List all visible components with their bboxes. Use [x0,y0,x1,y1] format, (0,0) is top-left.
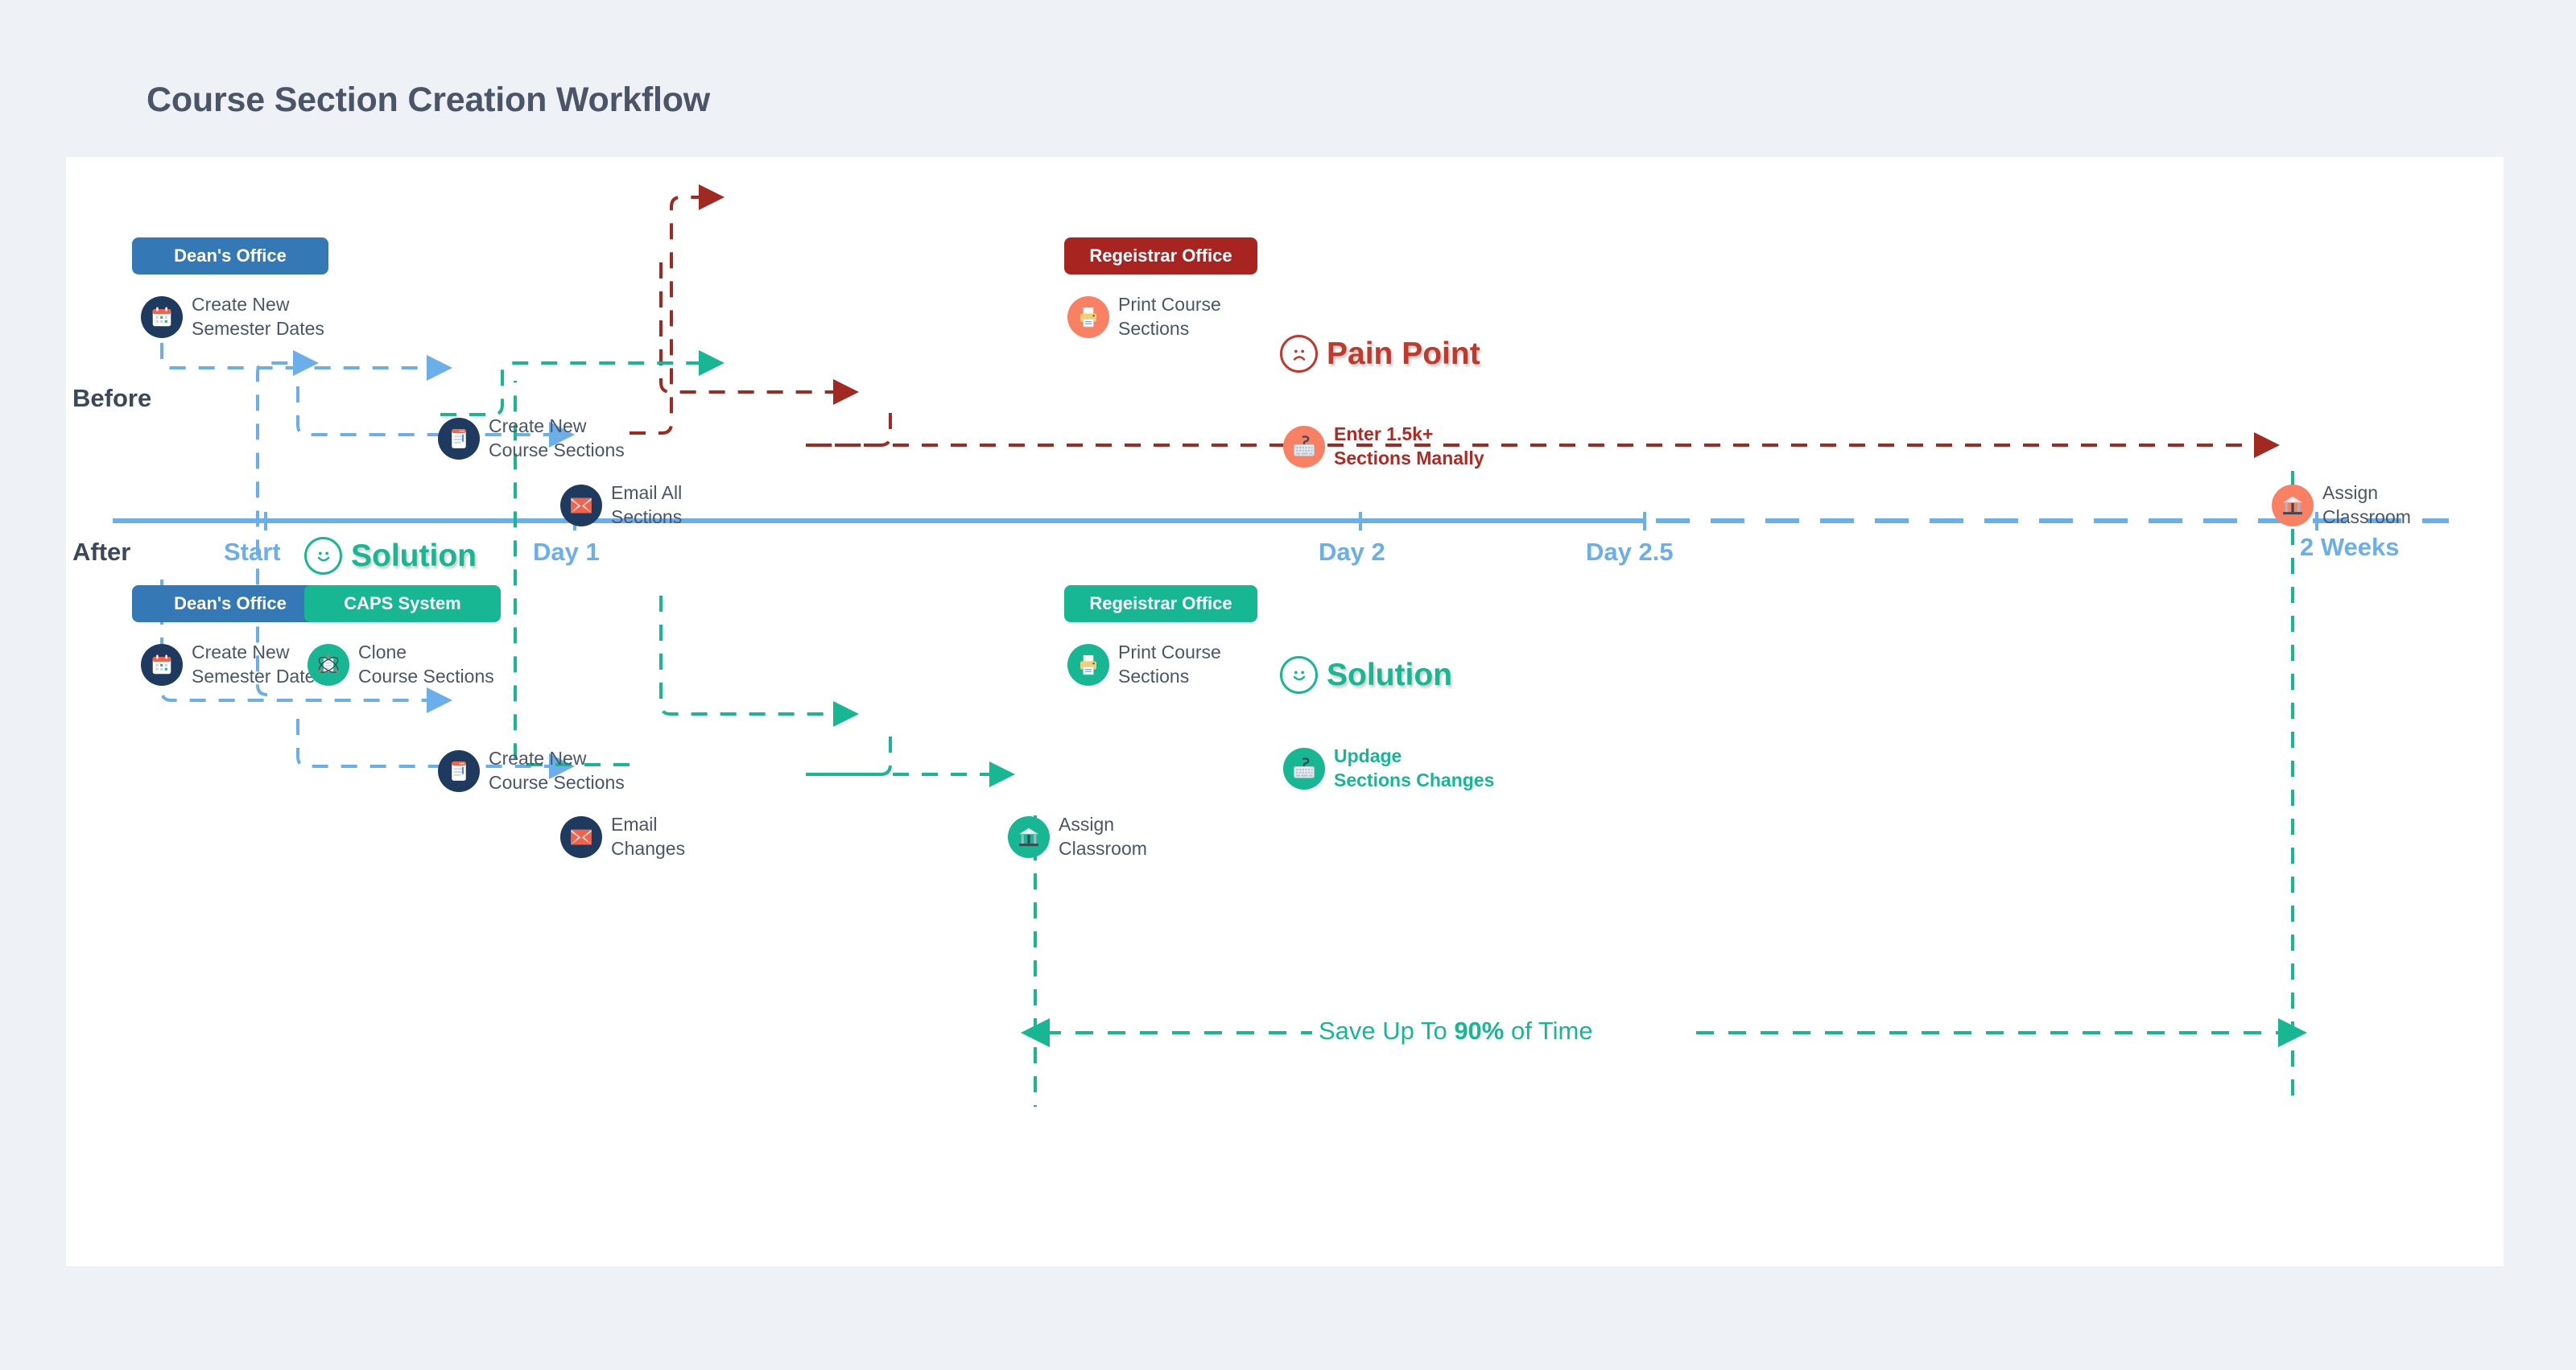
timeline-tick-label-day1: Day 1 [533,538,600,567]
lane-badge-label: Regeistrar Office [1089,246,1232,266]
connector-before-print-to-manual [661,262,836,392]
node-print-course-sections-after[interactable]: Print CourseSections [1067,641,1221,689]
lane-badge-label: Regeistrar Office [1089,593,1232,614]
timeline-before-label: Before [72,384,151,413]
timeline-tick-label-2weeks: 2 Weeks [2300,533,2400,562]
clone-atom-icon [308,644,349,686]
node-clone-course-sections[interactable]: CloneCourse Sections [308,641,494,689]
envelope-icon [560,816,602,858]
page-title: Course Section Creation Workflow [147,80,710,120]
document-form-icon [438,418,480,460]
lane-badge-label: Dean's Office [174,246,287,266]
connector-after-update-down [806,737,890,774]
timeline-tick-label-start: Start [224,538,281,567]
node-label: Email AllSections [611,481,682,530]
node-assign-classroom-before[interactable]: AssignClassroom [2272,481,2411,530]
node-label: Print CourseSections [1118,641,1221,689]
connector-after-print-to-update [661,596,836,714]
node-assign-classroom-after[interactable]: AssignClassroom [1008,813,1147,861]
lane-badge-registrar-office-after[interactable]: Regeistrar Office [1064,585,1257,622]
callout-label: Solution [351,539,477,574]
node-create-semester-dates-after[interactable]: Create NewSemester Dates [141,641,324,689]
node-email-all-sections-before[interactable]: Email AllSections [560,481,682,530]
printer-icon [1067,644,1109,686]
keyboard-icon [1283,426,1325,468]
lane-badge-registrar-office-before[interactable]: Regeistrar Office [1064,237,1257,274]
node-label: Create NewCourse Sections [489,415,625,463]
node-label: Enter 1.5k+Sections Manally [1334,423,1484,471]
node-print-course-sections-before[interactable]: Print CourseSections [1067,293,1221,341]
node-create-course-sections-after[interactable]: Create NewCourse Sections [438,747,625,795]
node-create-course-sections-before[interactable]: Create NewCourse Sections [438,415,625,463]
node-create-semester-dates-before[interactable]: Create NewSemester Dates [141,293,324,341]
savings-note: Save Up To 90% of Time [1319,1017,1593,1046]
timeline-after-label: After [72,538,130,567]
lane-badge-label: Dean's Office [174,593,287,614]
smiley-face-icon [1280,656,1318,694]
printer-icon [1067,296,1109,338]
calendar-icon [141,644,183,686]
savings-suffix: of Time [1504,1017,1592,1045]
node-label: CloneCourse Sections [358,641,494,689]
callout-solution-update: Solution [1280,656,1452,694]
envelope-icon [560,485,602,526]
classroom-icon [2272,485,2314,526]
node-label: UpdageSections Changes [1334,745,1494,793]
node-label: AssignClassroom [1059,813,1147,861]
classroom-icon [1008,816,1050,858]
node-label: EmailChanges [611,813,685,861]
node-enter-sections-manually-before[interactable]: Enter 1.5k+Sections Manally [1283,423,1484,471]
connector-before-email-to-registrar [630,197,702,433]
smiley-face-icon [304,537,342,575]
workflow-card: Dean's Office Regeistrar Office Create N… [66,157,2504,1266]
keyboard-icon [1283,748,1325,790]
node-email-changes[interactable]: EmailChanges [560,813,685,861]
savings-prefix: Save Up To [1319,1017,1454,1045]
lane-badge-deans-office-before[interactable]: Dean's Office [132,237,328,274]
timeline-tick-label-day25: Day 2.5 [1586,538,1674,567]
node-update-sections-changes[interactable]: UpdageSections Changes [1283,745,1494,793]
connector-before-manual-down [806,413,890,445]
callout-pain-point: Pain Point [1280,335,1480,373]
node-label: Create NewCourse Sections [489,747,625,795]
savings-percent: 90% [1454,1017,1504,1045]
lane-badge-deans-office-after[interactable]: Dean's Office [132,585,328,622]
callout-label: Pain Point [1327,336,1480,372]
timeline-tick-label-day2: Day 2 [1319,538,1385,567]
node-label: AssignClassroom [2322,481,2411,530]
node-label: Create NewSemester Dates [192,641,324,689]
node-label: Create NewSemester Dates [192,293,324,341]
calendar-icon [141,296,183,338]
callout-solution-caps: Solution [304,537,477,575]
lane-badge-label: CAPS System [344,593,461,614]
connector-layer [66,157,2504,1266]
sad-face-icon [1280,335,1318,373]
lane-badge-caps-system[interactable]: CAPS System [304,585,501,622]
document-form-icon [438,750,480,792]
node-label: Print CourseSections [1118,293,1221,341]
callout-label: Solution [1327,658,1452,693]
